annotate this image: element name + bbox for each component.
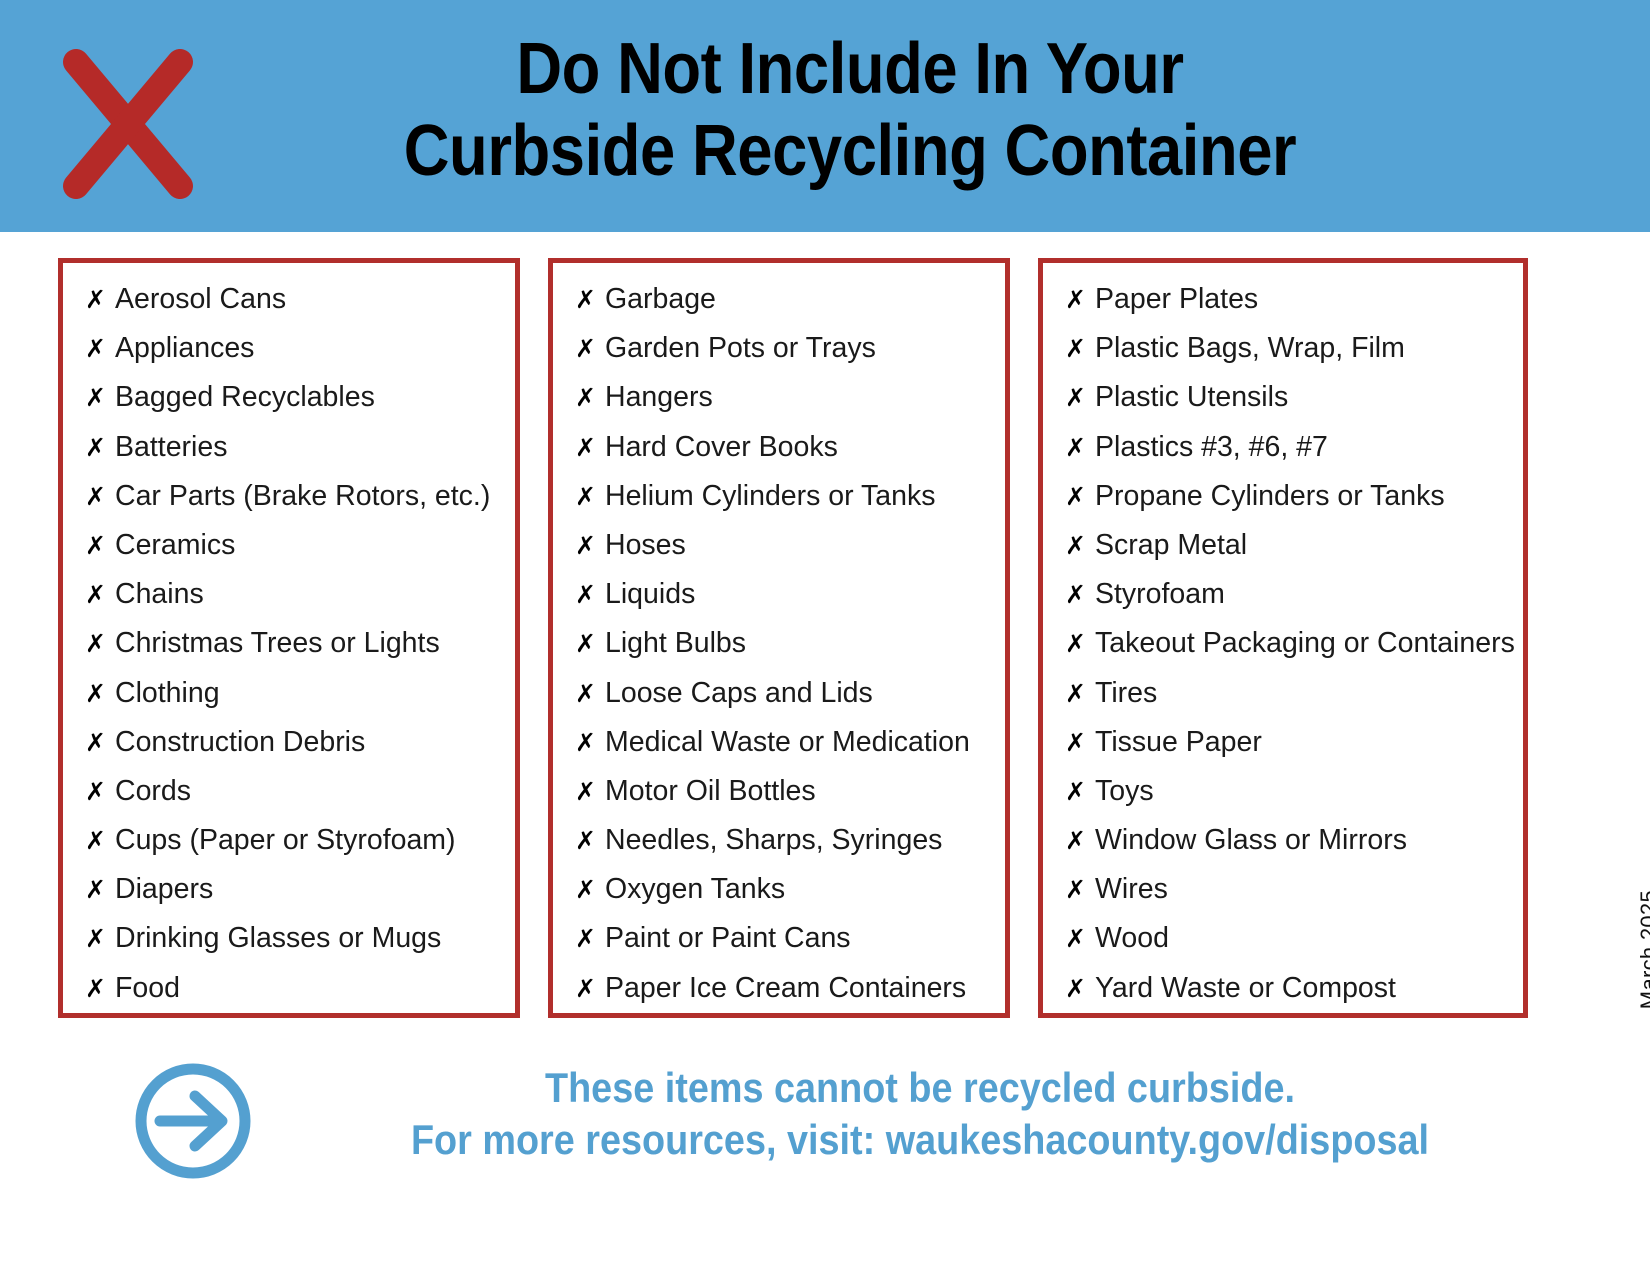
list-item-label: Tissue Paper <box>1095 728 1262 757</box>
x-mark-icon: ✗ <box>1065 336 1095 361</box>
x-mark-icon: ✗ <box>85 926 115 951</box>
list-item-label: Liquids <box>605 580 695 609</box>
list-item: ✗Needles, Sharps, Syringes <box>575 826 995 875</box>
list-item: ✗Helium Cylinders or Tanks <box>575 482 995 531</box>
x-mark-icon: ✗ <box>85 681 115 706</box>
x-mark-icon: ✗ <box>1065 976 1095 1001</box>
x-mark-icon: ✗ <box>1065 730 1095 755</box>
list-item: ✗Aerosol Cans <box>85 285 505 334</box>
x-mark-icon: ✗ <box>575 828 605 853</box>
x-mark-icon: ✗ <box>575 730 605 755</box>
x-mark-icon: ✗ <box>1065 681 1095 706</box>
list-item: ✗Hoses <box>575 531 995 580</box>
x-mark-icon: ✗ <box>1065 533 1095 558</box>
x-mark-icon: ✗ <box>575 631 605 656</box>
list-item-label: Propane Cylinders or Tanks <box>1095 482 1445 511</box>
footer-line-2[interactable]: For more resources, visit: waukeshacount… <box>335 1114 1505 1166</box>
list-item: ✗Bagged Recyclables <box>85 383 505 432</box>
list-item-label: Hangers <box>605 383 713 412</box>
list-item: ✗Cords <box>85 777 505 826</box>
x-mark-icon: ✗ <box>85 435 115 460</box>
list-box-column-2: ✗Garbage✗Garden Pots or Trays✗Hangers✗Ha… <box>548 258 1010 1018</box>
x-mark-icon: ✗ <box>1065 631 1095 656</box>
list-item: ✗Styrofoam <box>1065 580 1513 629</box>
list-item: ✗Scrap Metal <box>1065 531 1513 580</box>
x-mark-icon: ✗ <box>575 385 605 410</box>
list-item-label: Wood <box>1095 924 1169 953</box>
x-mark-icon: ✗ <box>85 976 115 1001</box>
x-mark-icon: ✗ <box>575 877 605 902</box>
list-item: ✗Yard Waste or Compost <box>1065 974 1513 1023</box>
x-mark-icon: ✗ <box>85 287 115 312</box>
title-line-2: Curbside Recycling Container <box>304 110 1395 192</box>
x-mark-icon: ✗ <box>1065 435 1095 460</box>
list-item: ✗Toys <box>1065 777 1513 826</box>
x-mark-icon: ✗ <box>1065 287 1095 312</box>
list-item: ✗Tissue Paper <box>1065 728 1513 777</box>
list-box-column-3: ✗Paper Plates✗Plastic Bags, Wrap, Film✗P… <box>1038 258 1528 1018</box>
excluded-items-columns: ✗Aerosol Cans✗Appliances✗Bagged Recyclab… <box>0 258 1650 1018</box>
list-item-label: Diapers <box>115 875 213 904</box>
list-item: ✗Chains <box>85 580 505 629</box>
list-item-label: Christmas Trees or Lights <box>115 629 440 658</box>
x-mark-icon: ✗ <box>85 533 115 558</box>
list-item-label: Garbage <box>605 285 716 314</box>
list-item-label: Paint or Paint Cans <box>605 924 851 953</box>
list-item-label: Toys <box>1095 777 1154 806</box>
x-mark-icon: ✗ <box>575 533 605 558</box>
circle-arrow-right-icon <box>132 1060 254 1182</box>
list-item-label: Chains <box>115 580 204 609</box>
list-item-label: Helium Cylinders or Tanks <box>605 482 936 511</box>
list-item-label: Light Bulbs <box>605 629 746 658</box>
list-item: ✗Hard Cover Books <box>575 433 995 482</box>
footer-banner: These items cannot be recycled curbside.… <box>0 1030 1650 1230</box>
footer-message: These items cannot be recycled curbside.… <box>270 1062 1570 1166</box>
list-item-label: Batteries <box>115 433 227 462</box>
list-item: ✗Motor Oil Bottles <box>575 777 995 826</box>
list-item-label: Needles, Sharps, Syringes <box>605 826 942 855</box>
x-mark-icon: ✗ <box>85 484 115 509</box>
list-item: ✗Clothing <box>85 679 505 728</box>
list-item: ✗Light Bulbs <box>575 629 995 678</box>
list-item-label: Paper Plates <box>1095 285 1258 314</box>
list-item-label: Oxygen Tanks <box>605 875 785 904</box>
list-item: ✗Ceramics <box>85 531 505 580</box>
list-item-label: Paper Ice Cream Containers <box>605 974 966 1003</box>
list-item-label: Plastics #3, #6, #7 <box>1095 433 1328 462</box>
list-item-label: Ceramics <box>115 531 235 560</box>
list-item: ✗Medical Waste or Medication <box>575 728 995 777</box>
list-item-label: Bagged Recyclables <box>115 383 375 412</box>
x-mark-icon: ✗ <box>85 779 115 804</box>
list-item: ✗Diapers <box>85 875 505 924</box>
list-item: ✗Takeout Packaging or Containers <box>1065 629 1513 678</box>
list-item: ✗Window Glass or Mirrors <box>1065 826 1513 875</box>
list-item-label: Cups (Paper or Styrofoam) <box>115 826 456 855</box>
x-mark-icon: ✗ <box>575 681 605 706</box>
list-item: ✗Wires <box>1065 875 1513 924</box>
list-item-label: Clothing <box>115 679 220 708</box>
x-mark-icon: ✗ <box>1065 484 1095 509</box>
poster-root: Do Not Include In Your Curbside Recyclin… <box>0 0 1650 1275</box>
list-item: ✗Drinking Glasses or Mugs <box>85 924 505 973</box>
list-item-label: Food <box>115 974 180 1003</box>
x-mark-icon: ✗ <box>85 582 115 607</box>
list-item-label: Takeout Packaging or Containers <box>1095 629 1515 658</box>
list-item: ✗Appliances <box>85 334 505 383</box>
list-item: ✗Propane Cylinders or Tanks <box>1065 482 1513 531</box>
x-mark-icon: ✗ <box>85 631 115 656</box>
list-item: ✗Wood <box>1065 924 1513 973</box>
list-item: ✗Plastic Bags, Wrap, Film <box>1065 334 1513 383</box>
list-item: ✗Liquids <box>575 580 995 629</box>
footer-line-1: These items cannot be recycled curbside. <box>335 1062 1505 1114</box>
list-item: ✗Paper Ice Cream Containers <box>575 974 995 1023</box>
x-mark-icon: ✗ <box>85 730 115 755</box>
list-item: ✗Loose Caps and Lids <box>575 679 995 728</box>
list-item-label: Window Glass or Mirrors <box>1095 826 1407 855</box>
x-mark-icon: ✗ <box>575 779 605 804</box>
x-mark-icon: ✗ <box>575 582 605 607</box>
x-mark-icon: ✗ <box>575 926 605 951</box>
list-item: ✗Garden Pots or Trays <box>575 334 995 383</box>
list-item-label: Medical Waste or Medication <box>605 728 970 757</box>
list-item: ✗Paper Plates <box>1065 285 1513 334</box>
date-stamp: March 2025 <box>1636 890 1650 1009</box>
list-item: ✗Plastic Utensils <box>1065 383 1513 432</box>
list-item: ✗Food <box>85 974 505 1023</box>
list-item-label: Styrofoam <box>1095 580 1225 609</box>
x-mark-icon: ✗ <box>1065 779 1095 804</box>
header-banner: Do Not Include In Your Curbside Recyclin… <box>0 0 1650 232</box>
page-title: Do Not Include In Your Curbside Recyclin… <box>230 28 1470 192</box>
title-line-1: Do Not Include In Your <box>304 28 1395 110</box>
x-mark-icon: ✗ <box>85 877 115 902</box>
list-item: ✗Hangers <box>575 383 995 432</box>
list-item: ✗Christmas Trees or Lights <box>85 629 505 678</box>
x-mark-icon: ✗ <box>575 435 605 460</box>
x-mark-icon: ✗ <box>85 336 115 361</box>
x-mark-icon: ✗ <box>575 287 605 312</box>
list-item: ✗Paint or Paint Cans <box>575 924 995 973</box>
list-item-label: Tires <box>1095 679 1157 708</box>
list-item: ✗Garbage <box>575 285 995 334</box>
list-item-label: Hard Cover Books <box>605 433 838 462</box>
list-item-label: Car Parts (Brake Rotors, etc.) <box>115 482 490 511</box>
x-mark-icon: ✗ <box>85 828 115 853</box>
list-item-label: Garden Pots or Trays <box>605 334 876 363</box>
list-item: ✗Cups (Paper or Styrofoam) <box>85 826 505 875</box>
x-mark-icon: ✗ <box>575 336 605 361</box>
list-item-label: Yard Waste or Compost <box>1095 974 1396 1003</box>
list-item: ✗Oxygen Tanks <box>575 875 995 924</box>
list-item-label: Appliances <box>115 334 254 363</box>
list-item-label: Construction Debris <box>115 728 365 757</box>
x-mark-icon: ✗ <box>1065 828 1095 853</box>
list-item-label: Drinking Glasses or Mugs <box>115 924 441 953</box>
x-mark-icon: ✗ <box>1065 582 1095 607</box>
list-item-label: Plastic Bags, Wrap, Film <box>1095 334 1405 363</box>
list-item-label: Cords <box>115 777 191 806</box>
x-mark-icon: ✗ <box>575 484 605 509</box>
list-item: ✗Batteries <box>85 433 505 482</box>
x-mark-icon: ✗ <box>575 976 605 1001</box>
x-mark-icon: ✗ <box>1065 877 1095 902</box>
red-x-icon <box>58 48 198 200</box>
list-item: ✗Plastics #3, #6, #7 <box>1065 433 1513 482</box>
list-item-label: Plastic Utensils <box>1095 383 1288 412</box>
list-item: ✗Tires <box>1065 679 1513 728</box>
list-item: ✗Construction Debris <box>85 728 505 777</box>
list-item-label: Motor Oil Bottles <box>605 777 816 806</box>
list-item-label: Aerosol Cans <box>115 285 286 314</box>
list-item-label: Hoses <box>605 531 686 560</box>
x-mark-icon: ✗ <box>1065 926 1095 951</box>
list-item: ✗Car Parts (Brake Rotors, etc.) <box>85 482 505 531</box>
list-box-column-1: ✗Aerosol Cans✗Appliances✗Bagged Recyclab… <box>58 258 520 1018</box>
list-item-label: Wires <box>1095 875 1168 904</box>
x-mark-icon: ✗ <box>85 385 115 410</box>
list-item-label: Scrap Metal <box>1095 531 1247 560</box>
list-item-label: Loose Caps and Lids <box>605 679 873 708</box>
x-mark-icon: ✗ <box>1065 385 1095 410</box>
